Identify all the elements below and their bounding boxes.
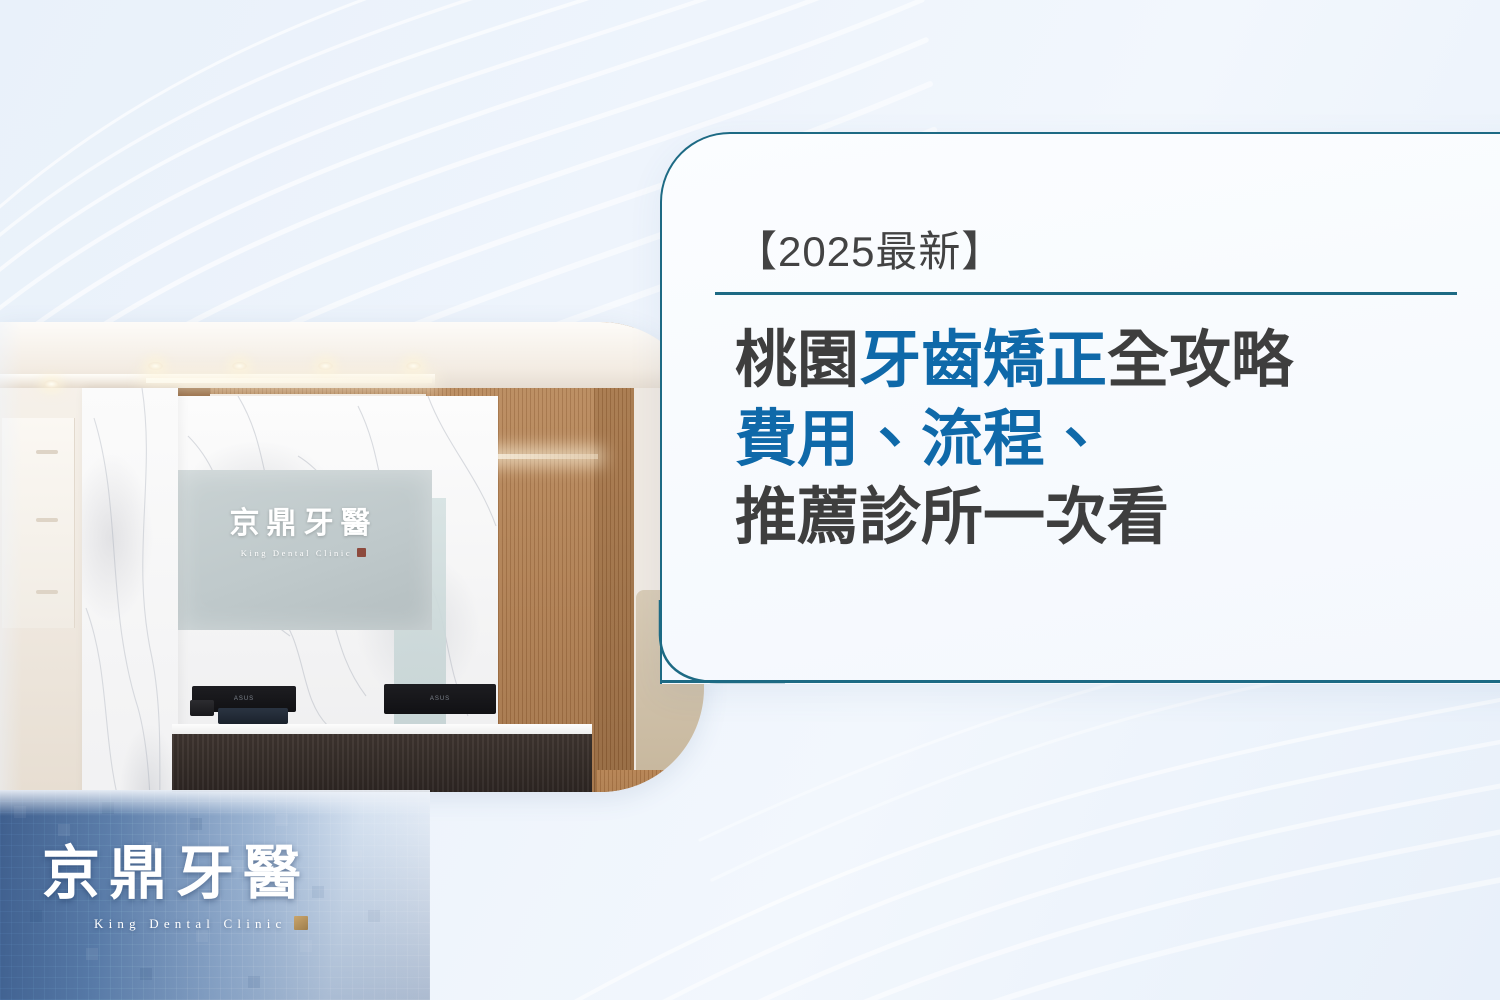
brand-logo-roman: King Dental Clinic [94,916,342,932]
headline-line-1: 桃園牙齒矯正全攻略 [735,322,1475,401]
card-bottom-corner [655,600,785,684]
seal-stamp-icon [294,916,308,930]
card-terminal [190,700,214,716]
photo-sign-han: 京鼎牙醫 [196,498,411,542]
page-title: 桃園牙齒矯正全攻略費用、流程、推薦診所一次看 [735,322,1475,558]
reception-monitor-2: ASUS [384,684,496,714]
headline-run-1-3: 全攻略 [1107,326,1293,395]
headline-run-1-2: 牙齒矯正 [859,326,1107,395]
headline-line-3: 推薦診所一次看 [735,479,1475,558]
headline-divider [715,292,1457,295]
photo-wall-sign: 京鼎牙醫 King Dental Clinic [196,498,411,558]
card-bottom-border [660,680,1500,683]
banner-stage: 京鼎牙醫 King Dental Clinic ASUS ASUS [0,0,1500,1000]
photo-sign-roman: King Dental Clinic [196,548,411,558]
eyebrow-label: 【2025最新】 [735,218,1004,279]
reception-keyboard [218,708,288,724]
headline-run-3-1: 推薦診所一次看 [735,483,1169,552]
brand-logo: 京鼎牙醫 King Dental Clinic [42,845,342,932]
clinic-reception-photo: 京鼎牙醫 King Dental Clinic ASUS ASUS [0,322,704,792]
seal-stamp-icon [357,548,366,557]
brand-logo-han: 京鼎牙醫 [42,845,342,903]
headline-run-1-1: 桃園 [735,326,859,395]
headline-line-2: 費用、流程、 [735,401,1475,480]
headline-run-2-1: 費用、流程、 [735,405,1107,474]
